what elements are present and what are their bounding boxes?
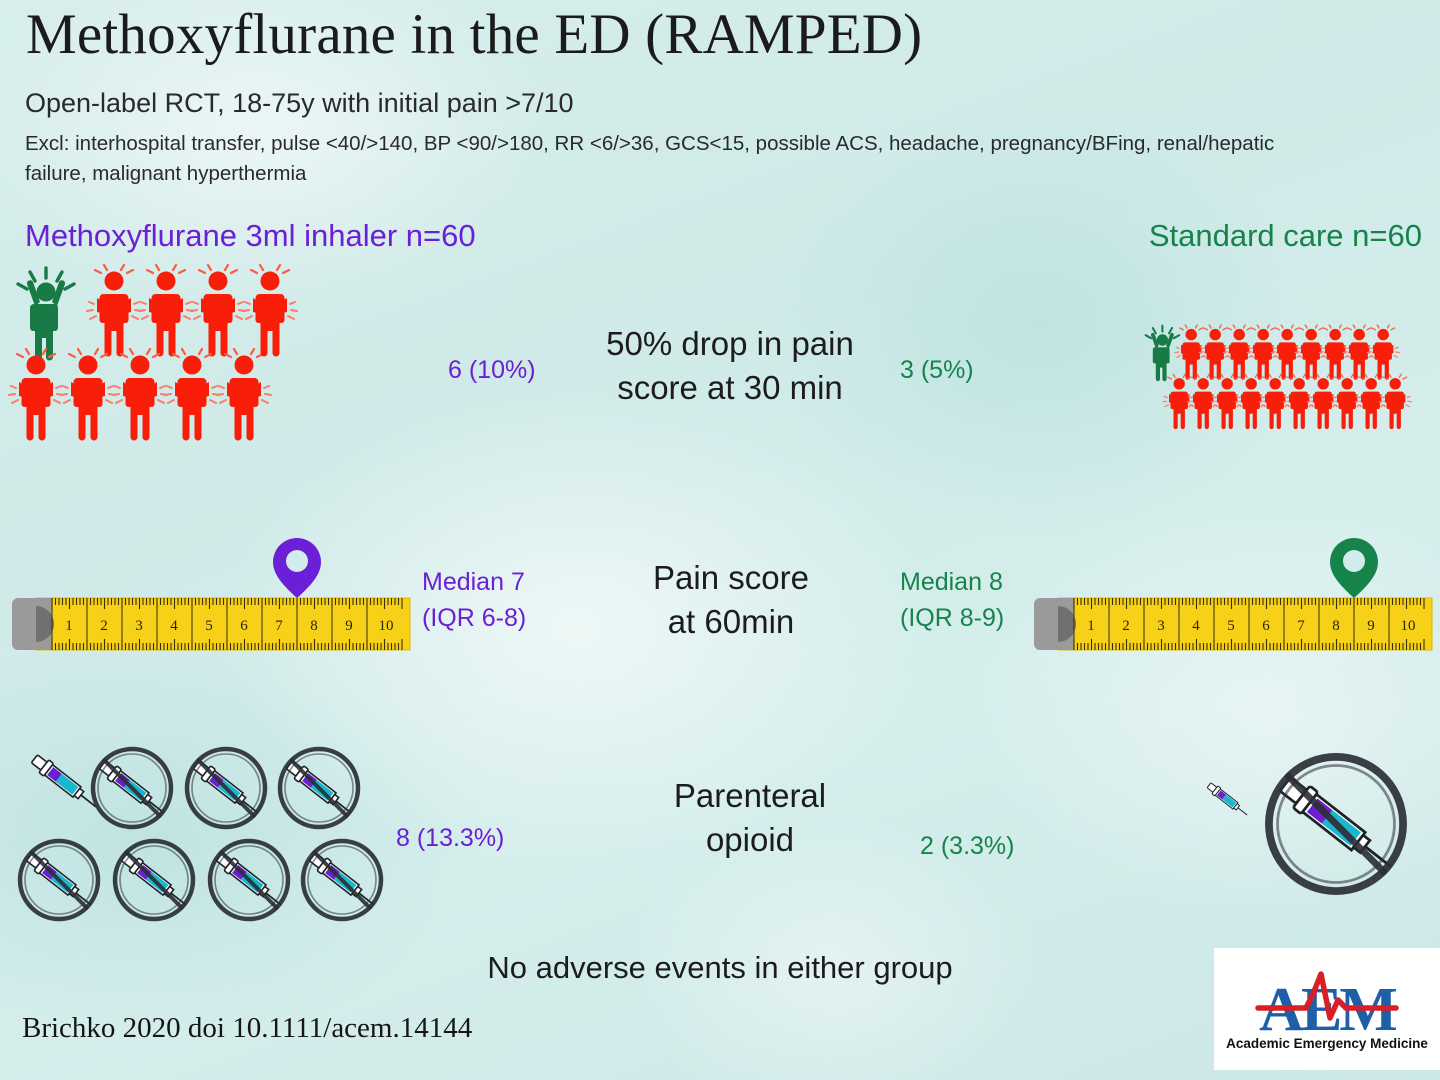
aem-logo-wordmark: Academic Emergency Medicine [1226, 1036, 1428, 1051]
ruler-tick-7: 7 [275, 618, 283, 634]
group-label-intervention: Methoxyflurane 3ml inhaler n=60 [25, 218, 476, 254]
ruler-tick-2: 2 [1122, 618, 1130, 634]
outcome2-value-intervention: Median 7 (IQR 6-8) [422, 564, 612, 636]
outcome2-label-line1: Pain score [608, 556, 854, 600]
page-title: Methoxyflurane in the ED (RAMPED) [26, 2, 922, 67]
outcome1-label: 50% drop in pain score at 30 min [560, 322, 900, 410]
pictogram-people-intervention [18, 262, 278, 447]
outcome3-label-line1: Parenteral [600, 774, 900, 818]
median-marker-pin-control [1330, 538, 1378, 598]
ruler-intervention: 1 2 3 4 5 6 7 8 9 10 [18, 538, 410, 663]
outcome2-label-line2: at 60min [608, 600, 854, 644]
ruler-tick-8: 8 [310, 618, 318, 634]
ruler-tick-6: 6 [1262, 618, 1270, 634]
study-design-subtitle: Open-label RCT, 18-75y with initial pain… [25, 88, 574, 119]
group-label-control: Standard care n=60 [1149, 218, 1422, 254]
outcome1-label-line2: score at 30 min [560, 366, 900, 410]
outcome3-value-intervention: 8 (13.3%) [396, 820, 596, 856]
ruler-tick-4: 4 [1192, 618, 1200, 634]
ruler-control: 1 2 3 4 5 6 7 8 9 10 [1040, 538, 1432, 663]
pictogram-syringes-control [1186, 748, 1430, 908]
exclusion-criteria-text: Excl: interhospital transfer, pulse <40/… [25, 129, 1325, 189]
ruler-tick-9: 9 [1367, 618, 1375, 634]
ruler-tick-8: 8 [1332, 618, 1340, 634]
pictogram-syringes-intervention [14, 740, 364, 908]
outcome2-label: Pain score at 60min [608, 556, 854, 644]
ruler-tick-4: 4 [170, 618, 178, 634]
ruler-tick-3: 3 [135, 618, 143, 634]
outcome3-label-line2: opioid [600, 818, 900, 862]
ruler-tick-1: 1 [1087, 618, 1095, 634]
citation-text: Brichko 2020 doi 10.1111/acem.14144 [22, 1012, 472, 1045]
ruler-tick-10: 10 [379, 618, 394, 634]
pictogram-people-control [1148, 322, 1430, 432]
outcome3-value-control: 2 (3.3%) [920, 828, 1120, 864]
ruler-tick-9: 9 [345, 618, 353, 634]
ruler-tick-1: 1 [65, 618, 73, 634]
ruler-tick-2: 2 [100, 618, 108, 634]
outcome2-median-intervention: Median 7 [422, 564, 612, 600]
ruler-tick-7: 7 [1297, 618, 1305, 634]
ruler-tick-5: 5 [1227, 618, 1235, 634]
ruler-tick-6: 6 [240, 618, 248, 634]
outcome3-label: Parenteral opioid [600, 774, 900, 862]
ruler-tick-5: 5 [205, 618, 213, 634]
median-marker-pin-intervention [273, 538, 321, 598]
ruler-tick-10: 10 [1401, 618, 1416, 634]
outcome1-label-line1: 50% drop in pain [560, 322, 900, 366]
outcome1-value-control: 3 (5%) [900, 352, 1080, 388]
outcome2-iqr-intervention: (IQR 6-8) [422, 600, 612, 636]
aem-logo: AEM Academic Emergency Medicine [1214, 948, 1440, 1070]
ruler-tick-3: 3 [1157, 618, 1165, 634]
